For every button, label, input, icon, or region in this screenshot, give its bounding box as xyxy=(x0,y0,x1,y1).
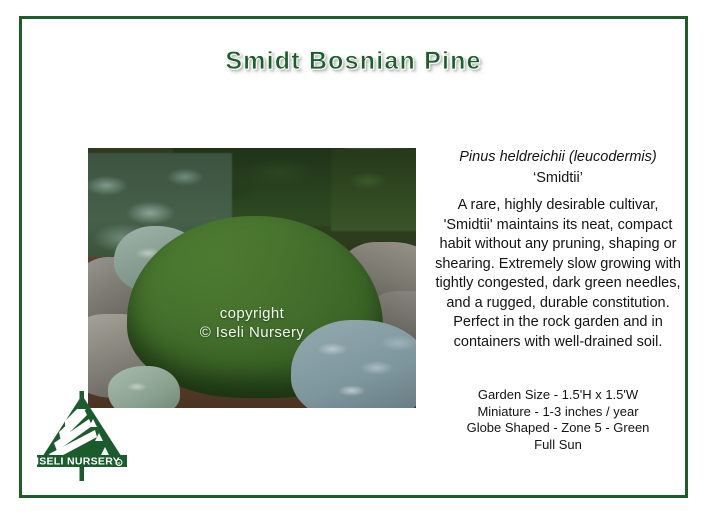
plant-specs-block: Garden Size - 1.5'H x 1.5'W Miniature - … xyxy=(433,387,683,453)
watermark-line-1: copyright xyxy=(88,304,416,323)
spec-garden-size: Garden Size - 1.5'H x 1.5'W xyxy=(433,387,683,404)
photo-background-conifer-right xyxy=(331,148,416,231)
cultivar-name: ‘Smidtii’ xyxy=(433,168,683,189)
spec-growth-rate: Miniature - 1-3 inches / year xyxy=(433,404,683,421)
watermark-line-2: © Iseli Nursery xyxy=(88,323,416,342)
botanical-name: Pinus heldreichii (leucodermis) xyxy=(433,147,683,167)
plant-description: A rare, highly desirable cultivar, 'Smid… xyxy=(433,196,683,352)
page-title: Smidt Bosnian Pine xyxy=(225,47,481,76)
plant-label-card: Smidt Bosnian Pine copyright © Iseli Nur… xyxy=(19,16,688,498)
iseli-nursery-logo: ISELI NURSERY R xyxy=(31,391,133,481)
plant-photo: copyright © Iseli Nursery xyxy=(88,148,416,408)
tree-logo-icon: ISELI NURSERY R xyxy=(31,391,133,481)
photo-scene xyxy=(88,148,416,408)
logo-text: ISELI NURSERY xyxy=(36,456,120,468)
spec-shape-zone-color: Globe Shaped - Zone 5 - Green xyxy=(433,420,683,437)
copyright-watermark: copyright © Iseli Nursery xyxy=(88,304,416,342)
plant-info-block: Pinus heldreichii (leucodermis) ‘Smidtii… xyxy=(433,147,683,352)
spec-sun-exposure: Full Sun xyxy=(433,437,683,454)
title-area: Smidt Bosnian Pine xyxy=(22,47,685,76)
